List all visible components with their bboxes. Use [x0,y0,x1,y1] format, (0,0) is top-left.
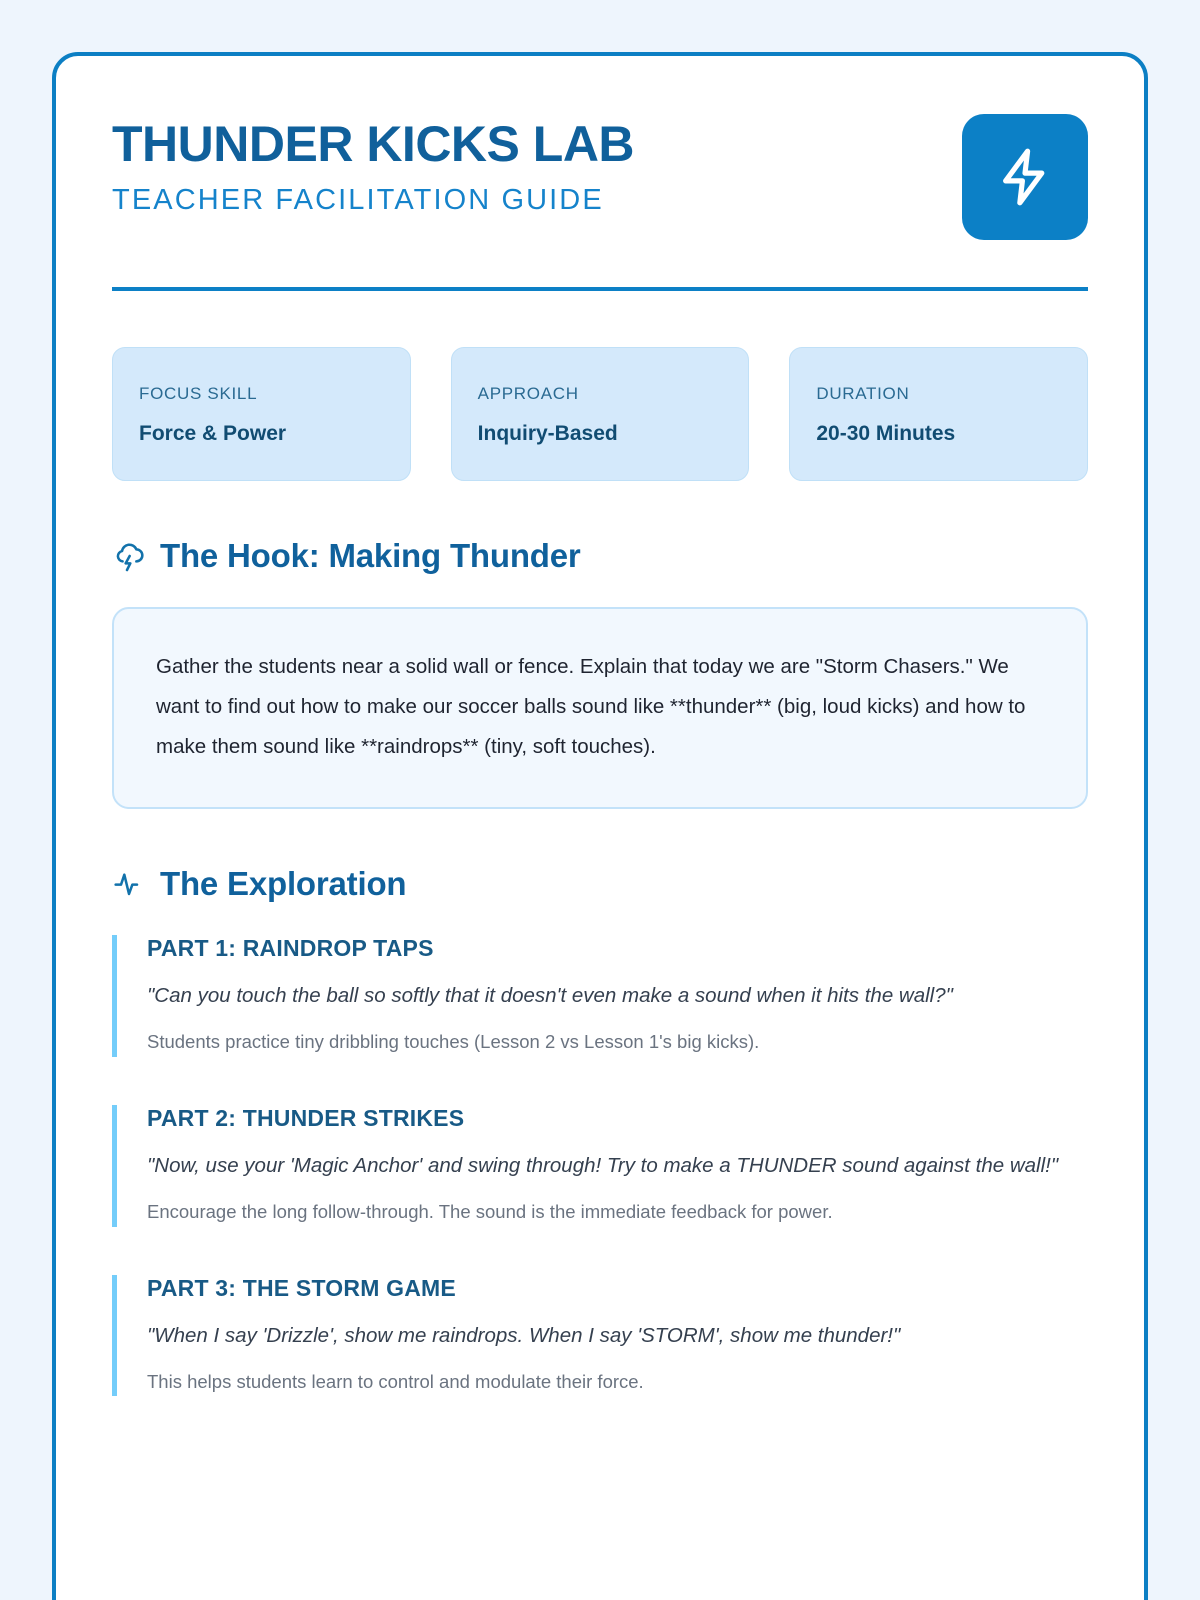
section-heading-exploration: The Exploration [112,865,1088,903]
part-prompt-quote: "Now, use your 'Magic Anchor' and swing … [147,1148,1088,1183]
section-heading-label: The Hook: Making Thunder [160,537,581,575]
section-heading-label: The Exploration [160,865,406,903]
document-page: THUNDER KICKS LAB TEACHER FACILITATION G… [0,0,1200,1600]
exploration-part: PART 2: THUNDER STRIKES "Now, use your '… [112,1105,1088,1227]
exploration-part: PART 1: RAINDROP TAPS "Can you touch the… [112,935,1088,1057]
meta-card-approach: APPROACH Inquiry-Based [451,347,750,481]
activity-pulse-icon [112,867,146,901]
hook-body-text: Gather the students near a solid wall or… [156,647,1044,767]
header-divider [112,287,1088,291]
part-title: PART 1: RAINDROP TAPS [147,935,1088,962]
meta-card-value: Inquiry-Based [478,422,723,446]
part-title: PART 2: THUNDER STRIKES [147,1105,1088,1132]
part-prompt-quote: "When I say 'Drizzle', show me raindrops… [147,1318,1088,1353]
meta-card-label: FOCUS SKILL [139,384,384,404]
page-title: THUNDER KICKS LAB [112,118,634,170]
lightning-bolt-icon [994,146,1056,208]
meta-card-row: FOCUS SKILL Force & Power APPROACH Inqui… [112,347,1088,481]
hook-callout: Gather the students near a solid wall or… [112,607,1088,809]
title-block: THUNDER KICKS LAB TEACHER FACILITATION G… [112,114,634,217]
meta-card-label: DURATION [816,384,1061,404]
meta-card-focus-skill: FOCUS SKILL Force & Power [112,347,411,481]
page-subtitle: TEACHER FACILITATION GUIDE [112,184,634,217]
exploration-parts-list: PART 1: RAINDROP TAPS "Can you touch the… [112,935,1088,1397]
part-title: PART 3: THE STORM GAME [147,1275,1088,1302]
meta-card-value: 20-30 Minutes [816,422,1061,446]
part-teacher-note: Students practice tiny dribbling touches… [147,1027,1088,1057]
lesson-guide-card: THUNDER KICKS LAB TEACHER FACILITATION G… [52,52,1148,1600]
meta-card-duration: DURATION 20-30 Minutes [789,347,1088,481]
meta-card-label: APPROACH [478,384,723,404]
part-teacher-note: This helps students learn to control and… [147,1367,1088,1397]
exploration-part: PART 3: THE STORM GAME "When I say 'Driz… [112,1275,1088,1397]
logo-badge [962,114,1088,240]
document-header: THUNDER KICKS LAB TEACHER FACILITATION G… [112,114,1088,240]
section-heading-hook: The Hook: Making Thunder [112,537,1088,575]
meta-card-value: Force & Power [139,422,384,446]
part-prompt-quote: "Can you touch the ball so softly that i… [147,978,1088,1013]
part-teacher-note: Encourage the long follow-through. The s… [147,1197,1088,1227]
cloud-lightning-icon [112,539,146,573]
